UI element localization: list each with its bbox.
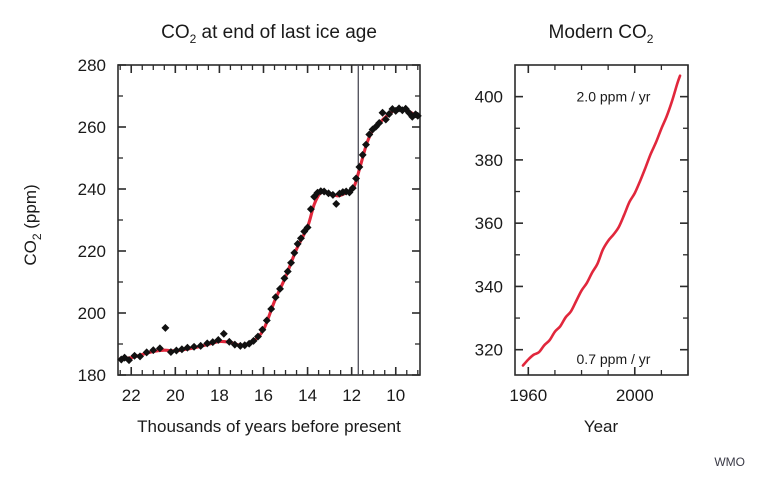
- ytick-label: 260: [78, 118, 106, 137]
- xtick-label: 18: [210, 386, 229, 405]
- co2-figure: CO2 at end of last ice age CO2 (ppm) Tho…: [0, 0, 758, 497]
- ylabel-ice-age: CO2 (ppm): [21, 184, 44, 265]
- data-point-marker: [333, 200, 340, 207]
- ytick-label: 280: [78, 56, 106, 75]
- ytick-label: 380: [475, 151, 503, 170]
- credit-wmo: WMO: [714, 455, 745, 469]
- data-point-marker: [379, 109, 386, 116]
- ytick-label: 220: [78, 242, 106, 261]
- modern-title-main: Modern CO: [549, 22, 647, 43]
- ytick-label: 400: [475, 88, 503, 107]
- title-text-rest: at end of last ice age: [196, 22, 377, 43]
- panel-title-ice-age: CO2 at end of last ice age: [161, 22, 377, 46]
- xtick-label: 10: [386, 386, 405, 405]
- panel-ice-age: CO2 at end of last ice age CO2 (ppm) Tho…: [21, 22, 421, 436]
- ytick-label: 240: [78, 180, 106, 199]
- ylabel-main: CO: [21, 240, 40, 266]
- xtick-labels-ice-age: 22201816141210: [122, 386, 405, 405]
- xtick-labels-modern: 19602000: [509, 386, 653, 405]
- ytick-label: 340: [475, 277, 503, 296]
- xtick-label: 1960: [509, 386, 547, 405]
- panel-title-modern: Modern CO2: [549, 22, 654, 46]
- xlabel-ice-age: Thousands of years before present: [137, 417, 401, 436]
- ytick-label: 360: [475, 214, 503, 233]
- ytick-labels-ice-age: 180200220240260280: [78, 56, 106, 385]
- xtick-label: 20: [166, 386, 185, 405]
- modern-co2-line: [523, 76, 680, 366]
- early-rate: 0.7 ppm / yr: [577, 351, 651, 367]
- ytick-label: 320: [475, 341, 503, 360]
- xtick-label: 14: [298, 386, 317, 405]
- ytick-labels-modern: 320340360380400: [475, 88, 503, 360]
- xtick-label: 16: [254, 386, 273, 405]
- modern-title-subscript: 2: [647, 32, 654, 46]
- rate-annotations: 2.0 ppm / yr0.7 ppm / yr: [577, 89, 651, 368]
- data-point-marker: [220, 330, 227, 337]
- xtick-label: 2000: [616, 386, 654, 405]
- co2-data-points: [118, 105, 421, 364]
- ylabel-rest: (ppm): [21, 184, 40, 233]
- xtick-label: 22: [122, 386, 141, 405]
- xtick-label: 12: [342, 386, 361, 405]
- panel-modern: Modern CO2 Year 320340360380400 19602000…: [475, 22, 688, 436]
- recent-rate: 2.0 ppm / yr: [577, 89, 651, 105]
- xlabel-modern: Year: [584, 417, 619, 436]
- title-text-main: CO: [161, 22, 190, 43]
- tickmarks-modern: [515, 65, 688, 375]
- figure-canvas: CO2 at end of last ice age CO2 (ppm) Tho…: [0, 0, 758, 497]
- ytick-label: 200: [78, 304, 106, 323]
- ytick-label: 180: [78, 366, 106, 385]
- data-point-marker: [162, 324, 169, 331]
- plot-frame-modern: [515, 65, 688, 375]
